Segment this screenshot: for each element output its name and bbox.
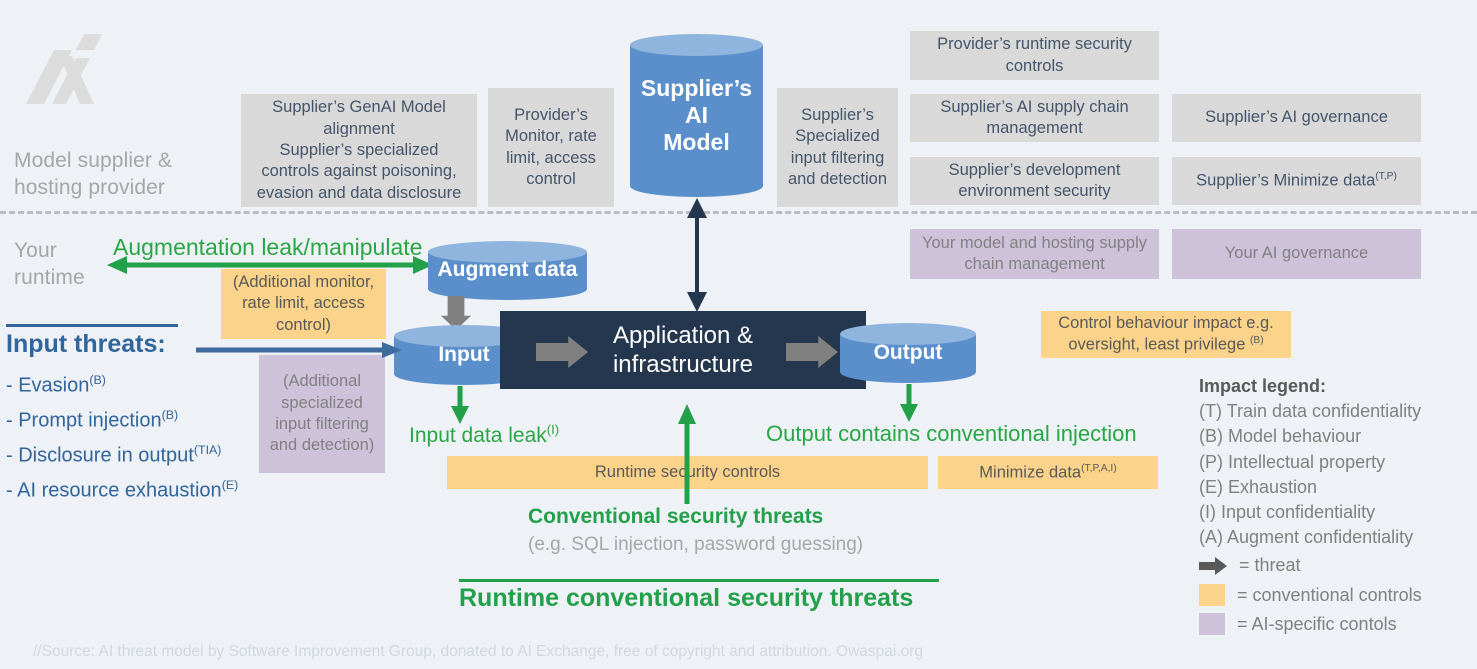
legend-conventional-label: = conventional controls: [1237, 583, 1422, 608]
node-augment-data: Augment data: [428, 241, 587, 300]
list-item-sup: (B): [162, 408, 179, 422]
box-provider-runtime-security-controls: Provider’s runtime security controls: [910, 31, 1159, 80]
box-your-supply-chain-management: Your model and hosting supply chain mana…: [910, 229, 1159, 279]
zone-label-supplier-line2: hosting provider: [14, 175, 214, 202]
box-supplier-ai-governance: Supplier’s AI governance: [1172, 94, 1421, 142]
box-control-behaviour-impact: Control behaviour impact e.g. oversight,…: [1041, 311, 1291, 358]
node-input: Input: [394, 325, 534, 385]
legend-item: (E) Exhaustion: [1199, 475, 1469, 500]
legend-item: (T) Train data confidentiality: [1199, 399, 1469, 424]
box-supplier-specialized-controls: Supplier’s specialized controls against …: [241, 137, 477, 207]
box-control-behaviour-label: Control behaviour impact e.g. oversight,…: [1058, 314, 1274, 354]
node-supplier-ai-model-line3: Model: [641, 129, 752, 156]
arrow-input-data-leak: [448, 386, 472, 424]
zone-label-supplier: Model supplier & hosting provider: [14, 148, 214, 202]
node-application-line2: infrastructure: [613, 350, 753, 379]
box-additional-monitor-rate-limit: (Additional monitor, rate limit, access …: [221, 269, 386, 339]
impact-legend-title: Impact legend:: [1199, 374, 1469, 399]
box-supplier-development-environment: Supplier’s development environment secur…: [910, 157, 1159, 205]
legend-item: (A) Augment confidentiality: [1199, 525, 1469, 550]
legend-aispecific-label: = AI-specific contols: [1237, 612, 1397, 637]
zone-divider: [0, 211, 1477, 214]
node-output-label: Output: [840, 323, 976, 383]
list-item-sup: (TIA): [194, 443, 222, 457]
list-item: - Disclosure in output(TIA): [6, 444, 238, 479]
arrow-model-to-application: [682, 196, 712, 314]
list-item-sup: (B): [89, 373, 106, 387]
node-augment-data-label: Augment data: [428, 241, 587, 300]
box-your-ai-governance: Your AI governance: [1172, 229, 1421, 279]
threat-label-input-data-leak-text: Input data leak: [409, 424, 547, 447]
box-minimize-data: Minimize data(T,P,A,I): [938, 456, 1158, 489]
legend-item: (B) Model behaviour: [1199, 424, 1469, 449]
box-supplier-minimize-data-sup: (T,P): [1375, 171, 1397, 182]
threat-label-input-data-leak-sup: (I): [547, 422, 559, 437]
runtime-conventional-rule: [459, 579, 939, 582]
box-additional-specialized-input-filtering: (Additional specialized input filtering …: [259, 355, 385, 473]
ai-specific-controls-swatch: [1199, 613, 1225, 635]
list-item: - AI resource exhaustion(E): [6, 479, 238, 514]
ai-exchange-logo: [14, 26, 114, 116]
input-threats-title: Input threats:: [6, 330, 166, 359]
list-item-label: - Evasion: [6, 375, 89, 397]
threat-label-conventional-sub: (e.g. SQL injection, password guessing): [528, 534, 863, 556]
legend-conventional-row: = conventional controls: [1199, 583, 1469, 608]
impact-legend: Impact legend: (T) Train data confidenti…: [1199, 374, 1469, 637]
arrow-conventional-threats: [675, 404, 699, 504]
node-supplier-ai-model-line1: Supplier’s: [641, 75, 752, 102]
legend-item: (I) Input confidentiality: [1199, 500, 1469, 525]
input-threats-rule: [6, 324, 178, 327]
node-output: Output: [840, 323, 976, 383]
node-supplier-ai-model-line2: AI: [641, 102, 752, 129]
legend-threat-row: = threat: [1199, 553, 1469, 578]
legend-item: (P) Intellectual property: [1199, 450, 1469, 475]
threat-label-output-injection: Output contains conventional injection: [766, 421, 1137, 447]
conventional-controls-swatch: [1199, 584, 1225, 606]
box-minimize-data-label: Minimize data: [979, 463, 1081, 481]
box-supplier-minimize-data-label: Supplier’s Minimize data: [1196, 172, 1375, 190]
diagram-canvas: Model supplier & hosting provider Your r…: [0, 0, 1477, 669]
box-supplier-minimize-data: Supplier’s Minimize data(T,P): [1172, 157, 1421, 205]
legend-aispecific-row: = AI-specific contols: [1199, 612, 1469, 637]
node-application-line1: Application &: [613, 321, 753, 350]
box-supplier-genai-alignment: Supplier’s GenAI Model alignment: [241, 94, 477, 143]
threat-arrow-icon: [1199, 557, 1227, 575]
list-item-sup: (E): [222, 478, 239, 492]
threat-label-input-data-leak: Input data leak(I): [409, 422, 559, 448]
threat-label-conventional: Conventional security threats: [528, 505, 823, 529]
legend-threat-label: = threat: [1239, 553, 1301, 578]
box-minimize-data-sup: (T,P,A,I): [1081, 463, 1117, 474]
list-item: - Prompt injection(B): [6, 409, 238, 444]
input-threats-list: - Evasion(B) - Prompt injection(B) - Dis…: [6, 374, 238, 514]
list-item-label: - AI resource exhaustion: [6, 480, 222, 502]
box-supplier-specialized-input-filtering: Supplier’s Specialized input filtering a…: [777, 88, 898, 207]
list-item: - Evasion(B): [6, 374, 238, 409]
list-item-label: - Disclosure in output: [6, 445, 194, 467]
node-input-label: Input: [394, 325, 534, 385]
box-provider-monitor-rate-limit: Provider’s Monitor, rate limit, access c…: [488, 88, 614, 207]
zone-label-supplier-line1: Model supplier &: [14, 148, 214, 175]
arrow-output-injection: [897, 384, 921, 422]
source-footer: //Source: AI threat model by Software Im…: [33, 643, 923, 661]
box-control-behaviour-sup: (B): [1250, 335, 1264, 346]
runtime-conventional-title: Runtime conventional security threats: [459, 584, 913, 613]
box-supplier-ai-supply-chain: Supplier’s AI supply chain management: [910, 94, 1159, 142]
list-item-label: - Prompt injection: [6, 410, 162, 432]
arrow-input-threats-to-input: [196, 340, 404, 360]
node-supplier-ai-model: Supplier’s AI Model: [630, 34, 763, 197]
